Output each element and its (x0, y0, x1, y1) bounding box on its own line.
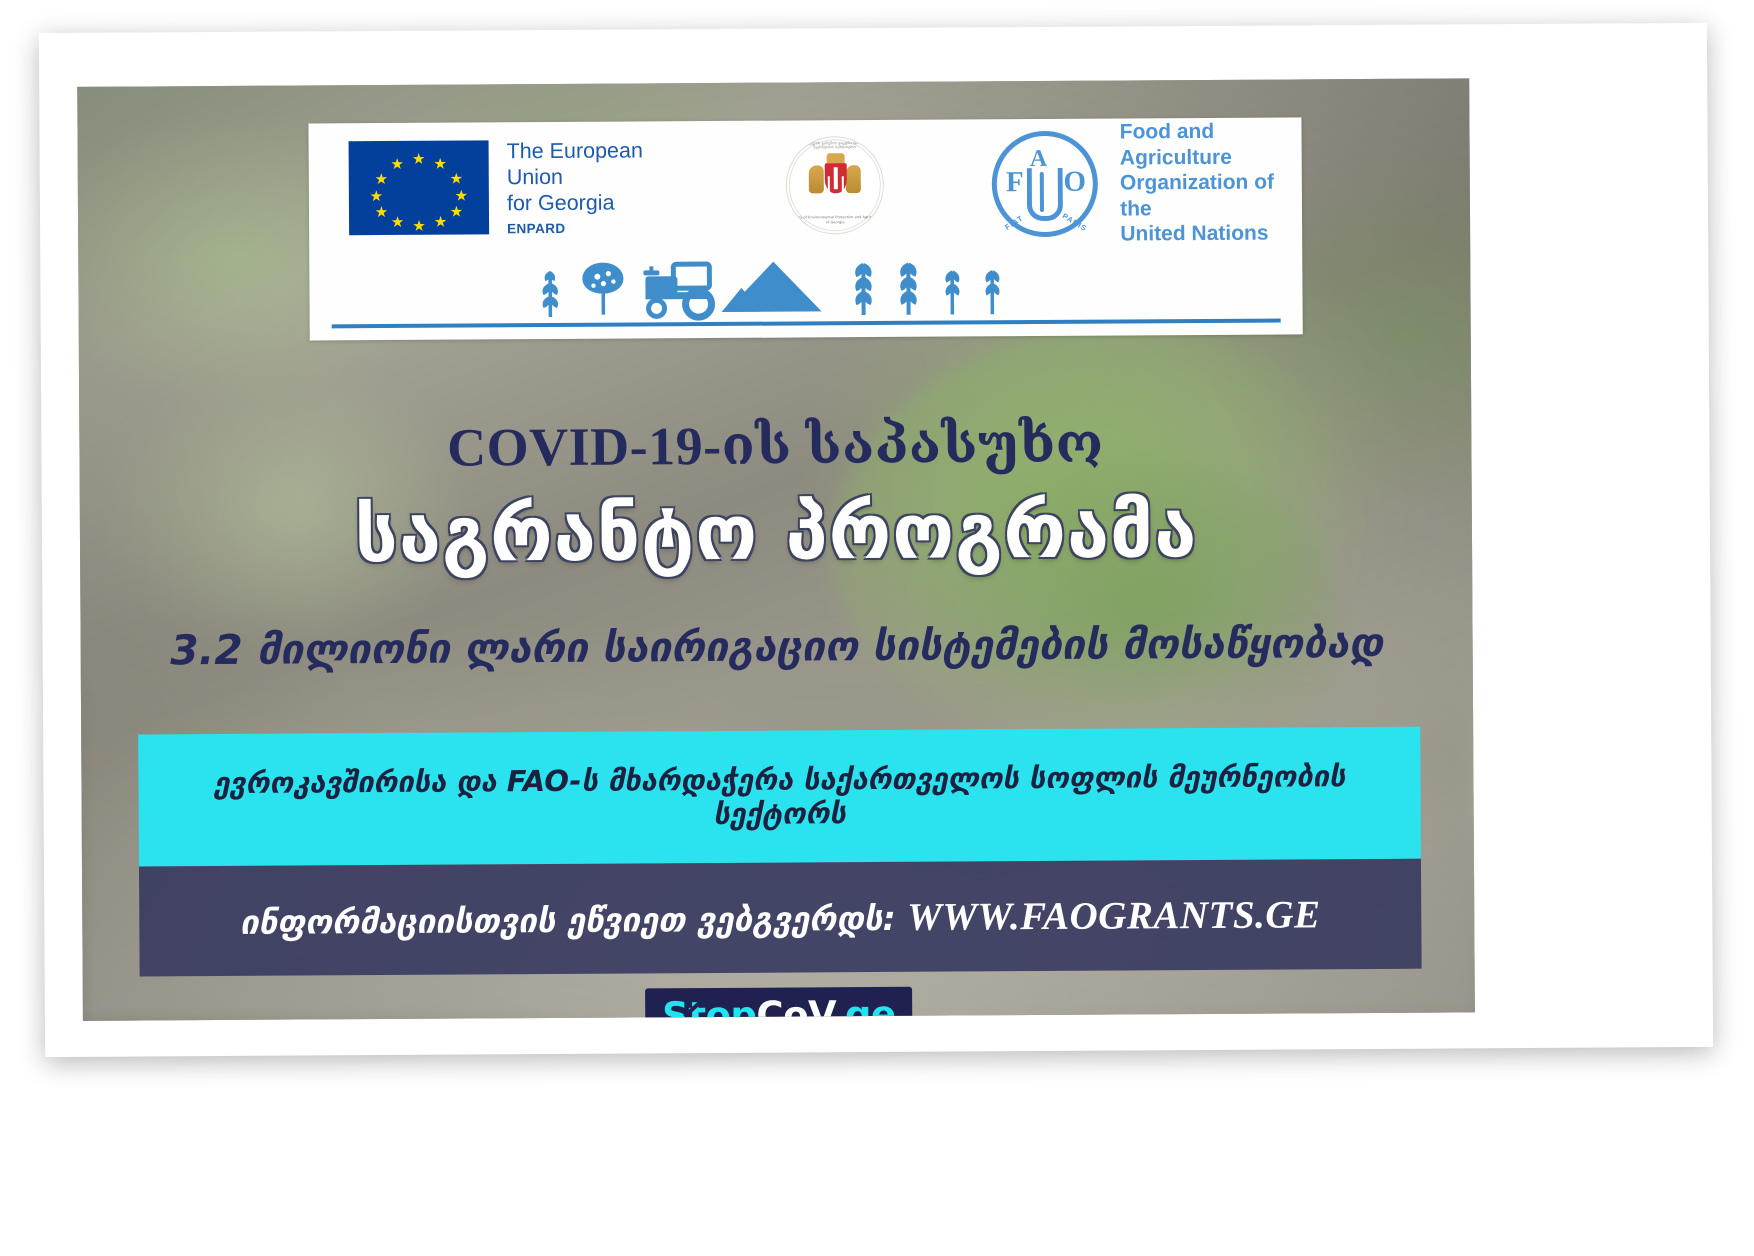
tractor-icon (643, 264, 711, 317)
emblem-lion-left-icon (809, 165, 824, 193)
fao-motto-left: FIAT (1003, 213, 1025, 231)
fao-emblem-icon: F A O FIAT PANIS (992, 131, 1099, 238)
hero-eyebrow: COVID-19-ის საპასუხო (79, 408, 1471, 481)
fao-title-line-2: Organization of the (1120, 170, 1302, 222)
eu-programme-label: ENPARD (507, 220, 674, 236)
wheat-icon (945, 270, 959, 314)
fao-letter-o: O (1063, 166, 1086, 199)
fao-wheat-icon (1027, 168, 1063, 221)
stopcov-stop-label: Stop (662, 994, 757, 1021)
partner-logo-strip: ★ ★ ★ ★ ★ ★ ★ ★ ★ ★ ★ ★ (308, 117, 1302, 340)
wheat-icon (855, 263, 872, 315)
fruit-tree-icon (582, 263, 623, 315)
eu-title-line-1: The European Union (507, 137, 675, 190)
hero-title: საგრანტო პროგრამა (80, 483, 1473, 581)
mountain-icon (721, 261, 821, 312)
website-banner-text: ინფორმაციისთვის ეწვიეთ ვებგვერდს: WWW.FA… (240, 892, 1321, 944)
stopcov-part-cov: CoV (756, 993, 831, 1021)
stopcov-part-tld: .ge (831, 993, 895, 1021)
fao-title-line-3: United Nations (1120, 221, 1302, 248)
fao-logo-text: Food and Agriculture Organization of the… (1120, 119, 1303, 248)
website-banner-lead: ინფორმაციისთვის ეწვიეთ ვებგვერდს: (240, 898, 896, 941)
website-url-link[interactable]: WWW.FAOGRANTS.GE (907, 893, 1321, 939)
stopcov-badge[interactable]: Stop CoV.ge (645, 987, 913, 1021)
fao-letter-f: F (1006, 166, 1024, 199)
wheat-icon (542, 271, 558, 317)
logo-row: ★ ★ ★ ★ ★ ★ ★ ★ ★ ★ ★ ★ (308, 117, 1302, 253)
eu-logo-text: The European Union for Georgia ENPARD (507, 137, 675, 236)
wheat-icon (985, 270, 999, 314)
fao-logo-block: F A O FIAT PANIS Food and Agriculture Or… (992, 119, 1303, 248)
hero-subtitle: 3.2 მილიონი ლარი საირიგაციო სისტემების მ… (81, 618, 1473, 675)
emblem-lion-right-icon (846, 165, 861, 193)
support-banner-text: ევროკავშირისა და FAO-ს მხარდაჭერა საქართ… (138, 759, 1420, 835)
emblem-ring-label: საქართველოს გარემოს დაცვისა და სოფლის მე… (787, 141, 883, 150)
wheat-icon (900, 263, 917, 315)
background-photograph: ★ ★ ★ ★ ★ ★ ★ ★ ★ ★ ★ ★ (77, 78, 1475, 1020)
emblem-crown-icon (827, 153, 845, 163)
eu-flag-icon: ★ ★ ★ ★ ★ ★ ★ ★ ★ ★ ★ ★ (349, 140, 490, 235)
support-banner: ევროკავშირისა და FAO-ს მხარდაჭერა საქართ… (138, 727, 1421, 867)
georgia-ministry-emblem-icon: საქართველოს გარემოს დაცვისა და სოფლის მე… (786, 136, 885, 235)
fao-motto-right: PANIS (1061, 211, 1089, 233)
eu-logo-block: ★ ★ ★ ★ ★ ★ ★ ★ ★ ★ ★ ★ (349, 137, 675, 237)
agriculture-icon-band (309, 249, 1303, 340)
emblem-caption: Ministry of Environmental Protection and… (787, 215, 883, 224)
agriculture-icons-svg (309, 254, 1302, 324)
stopcov-part-stop: Stop (662, 994, 757, 1021)
emblem-shield-icon (825, 163, 847, 193)
fao-title-line-1: Food and Agriculture (1120, 119, 1302, 171)
website-banner: ინფორმაციისთვის ეწვიეთ ვებგვერდს: WWW.FA… (139, 859, 1422, 977)
poster-card: ★ ★ ★ ★ ★ ★ ★ ★ ★ ★ ★ ★ (39, 23, 1713, 1057)
eu-title-line-2: for Georgia (507, 189, 674, 216)
poster-root: ★ ★ ★ ★ ★ ★ ★ ★ ★ ★ ★ ★ (0, 0, 1754, 1256)
